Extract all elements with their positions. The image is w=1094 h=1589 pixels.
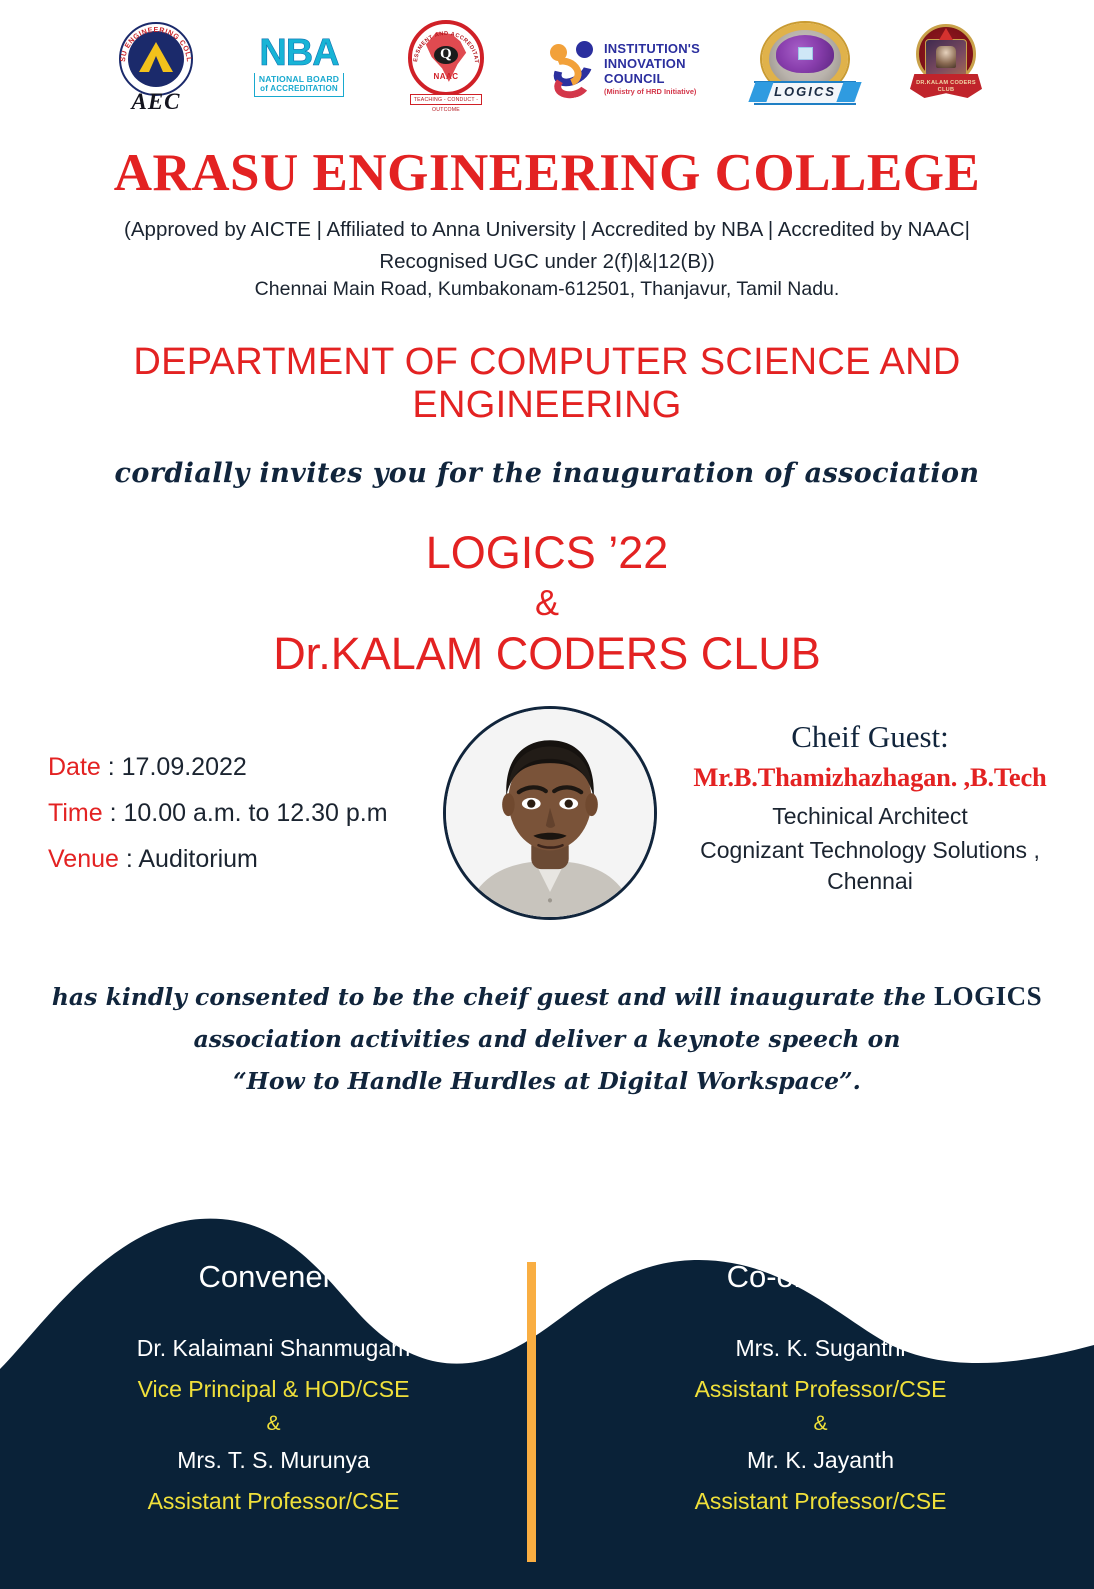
conveners-heading: Conveners — [0, 1255, 547, 1299]
venue-value: : Auditorium — [126, 845, 258, 873]
coordinator-role-2: Assistant Professor/CSE — [547, 1481, 1094, 1521]
footer-panel: Conveners Dr. Kalaimani Shanmugam Vice P… — [0, 1159, 1094, 1589]
naac-arc-text: ASSESSMENT AND ACCREDITATION — [398, 20, 494, 100]
chief-guest-portrait-illustration — [446, 709, 654, 917]
time-label: Time — [48, 799, 103, 827]
consent-line-3: “How to Handle Hurdles at Digital Worksp… — [0, 1060, 1094, 1102]
venue-label: Venue — [48, 845, 119, 873]
iic-line4: (Ministry of HRD Initiative) — [604, 86, 700, 97]
naac-logo: Q ASSESSMENT AND ACCREDITATION NAAC TEAC… — [398, 20, 494, 118]
nba-line1: NATIONAL BOARD — [255, 74, 343, 84]
consent-line-2: association activities and deliver a key… — [0, 1018, 1094, 1060]
nba-text-box: NATIONAL BOARD of ACCREDITATION — [254, 73, 344, 97]
consent-paragraph: has kindly consented to be the cheif gue… — [0, 975, 1094, 1102]
approval-block: (Approved by AICTE | Affiliated to Anna … — [0, 214, 1094, 278]
iic-line1: INSTITUTION'S — [604, 41, 700, 56]
aec-wordmark: AEC — [112, 89, 200, 115]
iic-line3: COUNCIL — [604, 71, 700, 86]
iic-line2: INNOVATION — [604, 56, 700, 71]
logics-chip-icon — [798, 47, 813, 60]
svg-text:ASSESSMENT AND ACCREDITATION: ASSESSMENT AND ACCREDITATION — [398, 20, 479, 64]
consent-line-1-text: has kindly consented to be the cheif gue… — [52, 983, 934, 1011]
details-row: Date : 17.09.2022 Time : 10.00 a.m. to 1… — [0, 700, 1094, 940]
convener-role-2: Assistant Professor/CSE — [0, 1481, 547, 1521]
svg-text:ARASU ENGINEERING COLLEGE: ARASU ENGINEERING COLLEGE — [112, 22, 194, 63]
naac-label: NAAC — [398, 72, 494, 81]
convener-role-1: Vice Principal & HOD/CSE — [0, 1369, 547, 1409]
chief-guest-photo — [443, 706, 657, 920]
time-value: : 10.00 a.m. to 12.30 p.m — [110, 799, 388, 827]
college-name-title: ARASU ENGINEERING COLLEGE — [0, 143, 1094, 203]
kcc-triangle-icon — [939, 28, 953, 40]
date-label: Date — [48, 753, 101, 781]
coordinators-column: Co-ordinators Mrs. K. Suganthi Assistant… — [547, 1159, 1094, 1589]
consent-line-1: has kindly consented to be the cheif gue… — [0, 975, 1094, 1018]
coordinators-heading: Co-ordinators — [547, 1255, 1094, 1299]
venue-row: Venue : Auditorium — [48, 836, 388, 882]
event-title-block: LOGICS ’22 & Dr.KALAM CODERS CLUB — [0, 525, 1094, 681]
event-title-secondary: Dr.KALAM CODERS CLUB — [0, 626, 1094, 681]
coordinator-ampersand: & — [547, 1409, 1094, 1439]
coordinator-name-2: Mr. K. Jayanth — [547, 1439, 1094, 1481]
consent-line-1-logics: LOGICS — [934, 981, 1042, 1011]
footer-vertical-divider — [527, 1262, 536, 1562]
department-heading: DEPARTMENT OF COMPUTER SCIENCE AND ENGIN… — [0, 341, 1094, 427]
invitation-line: cordially invites you for the inaugurati… — [0, 458, 1094, 489]
logo-strip: ARASU ENGINEERING COLLEGE AEC NBA NATION… — [0, 14, 1094, 124]
kcc-portrait — [936, 46, 956, 68]
event-title-primary: LOGICS ’22 — [0, 525, 1094, 580]
kcc-ribbon-line1: DR.KALAM CODERS — [910, 80, 982, 86]
nba-logo: NBA NATIONAL BOARD of ACCREDITATION — [254, 33, 344, 105]
kalam-coders-club-logo: DR.KALAM CODERS CLUB — [910, 24, 982, 114]
date-value: : 17.09.2022 — [108, 753, 247, 781]
coordinator-role-1: Assistant Professor/CSE — [547, 1369, 1094, 1409]
approval-line-2: Recognised UGC under 2(f)|&|12(B)) — [0, 246, 1094, 278]
chief-guest-role: Techinical Architect — [660, 798, 1080, 835]
naac-ribbon: TEACHING - CONDUCT - OUTCOME — [410, 94, 482, 105]
date-time-venue-block: Date : 17.09.2022 Time : 10.00 a.m. to 1… — [48, 744, 388, 882]
aec-logo: ARASU ENGINEERING COLLEGE AEC — [112, 22, 200, 116]
nba-line2: of ACCREDITATION — [255, 84, 343, 94]
nba-mark: NBA — [254, 33, 344, 73]
iic-text: INSTITUTION'S INNOVATION COUNCIL (Minist… — [604, 41, 700, 97]
kcc-ribbon-line2: CLUB — [910, 87, 982, 93]
logics-wordmark: LOGICS — [754, 84, 856, 99]
convener-name-1: Dr. Kalaimani Shanmugam — [0, 1327, 547, 1369]
iic-mark — [548, 38, 598, 100]
kcc-ribbon — [910, 74, 982, 98]
chief-guest-name: Mr.B.Thamizhazhagan. ,B.Tech — [660, 756, 1080, 798]
footer-columns: Conveners Dr. Kalaimani Shanmugam Vice P… — [0, 1159, 1094, 1589]
logics-logo: LOGICS — [754, 23, 856, 115]
chief-guest-org-line1: Cognizant Technology Solutions , — [660, 835, 1080, 866]
date-row: Date : 17.09.2022 — [48, 744, 388, 790]
time-row: Time : 10.00 a.m. to 12.30 p.m — [48, 790, 388, 836]
college-address: Chennai Main Road, Kumbakonam-612501, Th… — [0, 278, 1094, 301]
convener-ampersand: & — [0, 1409, 547, 1439]
convener-name-2: Mrs. T. S. Murunya — [0, 1439, 547, 1481]
chief-guest-label: Cheif Guest: — [660, 718, 1080, 756]
chief-guest-info: Cheif Guest: Mr.B.Thamizhazhagan. ,B.Tec… — [660, 718, 1080, 897]
event-title-ampersand: & — [0, 580, 1094, 626]
conveners-column: Conveners Dr. Kalaimani Shanmugam Vice P… — [0, 1159, 547, 1589]
approval-line-1: (Approved by AICTE | Affiliated to Anna … — [0, 214, 1094, 246]
coordinator-name-1: Mrs. K. Suganthi — [547, 1327, 1094, 1369]
chief-guest-org-line2: Chennai — [660, 866, 1080, 897]
iic-logo: INSTITUTION'S INNOVATION COUNCIL (Minist… — [548, 29, 700, 109]
